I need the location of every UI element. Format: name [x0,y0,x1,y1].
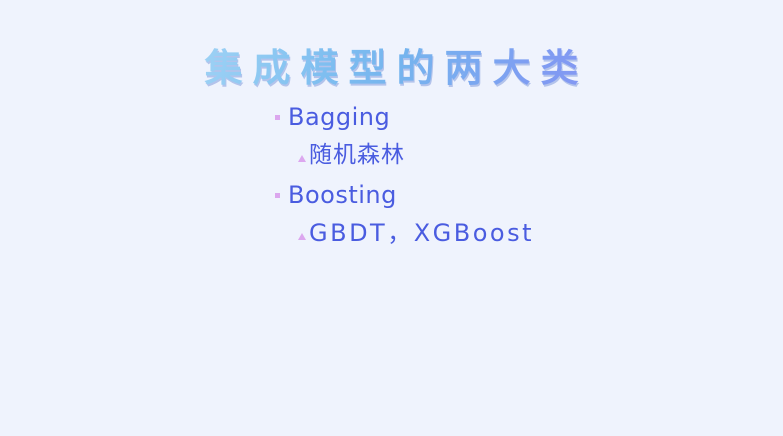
list-item-label: Bagging [288,104,390,130]
page-title: 集成模型的两大类 [194,43,588,93]
slide-canvas: 集成模型的两大类 Bagging 随机森林 Boosting GBDT，XGBo… [0,0,783,436]
list-item: Boosting [274,182,744,208]
list-item-label: 随机森林 [309,142,405,168]
list-item-label: Boosting [288,182,397,208]
bullet-list: Bagging 随机森林 Boosting GBDT，XGBoost [274,104,744,260]
list-item: GBDT，XGBoost [298,220,744,246]
list-item: 随机森林 [298,142,744,168]
square-bullet-icon [274,182,288,208]
list-item: Bagging [274,104,744,130]
triangle-bullet-icon [298,220,309,246]
triangle-bullet-icon [298,142,309,168]
square-bullet-icon [274,104,288,130]
list-item-label: GBDT，XGBoost [309,220,534,246]
